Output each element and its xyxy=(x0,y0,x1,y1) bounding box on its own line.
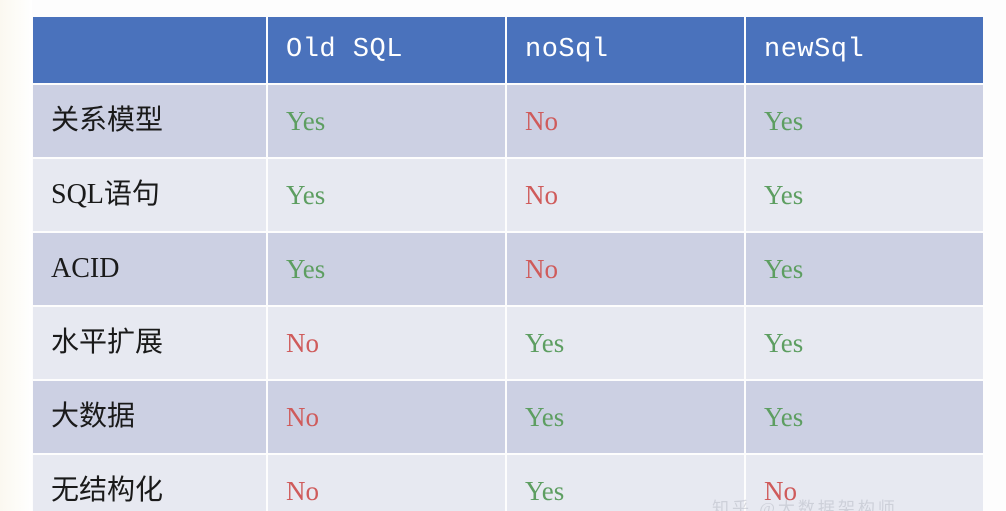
cell-newsql: Yes xyxy=(746,381,983,453)
cell-old-sql: Yes xyxy=(268,233,505,305)
cell-newsql: Yes xyxy=(746,233,983,305)
table-header: Old SQL noSql newSql xyxy=(33,17,983,83)
cell-nosql: Yes xyxy=(507,381,744,453)
cell-nosql: Yes xyxy=(507,307,744,379)
row-label: 水平扩展 xyxy=(33,307,266,379)
header-cell-nosql: noSql xyxy=(507,17,744,83)
row-label: ACID xyxy=(33,233,266,305)
table-row: SQL语句 Yes No Yes xyxy=(33,159,983,231)
cell-nosql: Yes xyxy=(507,455,744,511)
table-row: 大数据 No Yes Yes xyxy=(33,381,983,453)
table-body: 关系模型 Yes No Yes SQL语句 Yes No Yes ACID Ye… xyxy=(33,85,983,511)
cell-old-sql: No xyxy=(268,307,505,379)
table-row: 关系模型 Yes No Yes xyxy=(33,85,983,157)
header-row: Old SQL noSql newSql xyxy=(33,17,983,83)
comparison-table: Old SQL noSql newSql 关系模型 Yes No Yes SQL… xyxy=(31,15,985,511)
cell-old-sql: Yes xyxy=(268,85,505,157)
cell-old-sql: Yes xyxy=(268,159,505,231)
cell-nosql: No xyxy=(507,85,744,157)
cell-newsql: Yes xyxy=(746,159,983,231)
table-row: 无结构化 No Yes No xyxy=(33,455,983,511)
header-cell-old-sql: Old SQL xyxy=(268,17,505,83)
header-cell-corner xyxy=(33,17,266,83)
cell-newsql: No xyxy=(746,455,983,511)
row-label: SQL语句 xyxy=(33,159,266,231)
cell-nosql: No xyxy=(507,159,744,231)
cell-old-sql: No xyxy=(268,381,505,453)
cell-newsql: Yes xyxy=(746,85,983,157)
slide-canvas: Old SQL noSql newSql 关系模型 Yes No Yes SQL… xyxy=(0,0,1006,511)
header-cell-newsql: newSql xyxy=(746,17,983,83)
cell-newsql: Yes xyxy=(746,307,983,379)
table-row: 水平扩展 No Yes Yes xyxy=(33,307,983,379)
cell-nosql: No xyxy=(507,233,744,305)
row-label: 大数据 xyxy=(33,381,266,453)
row-label: 关系模型 xyxy=(33,85,266,157)
table-row: ACID Yes No Yes xyxy=(33,233,983,305)
cell-old-sql: No xyxy=(268,455,505,511)
row-label: 无结构化 xyxy=(33,455,266,511)
